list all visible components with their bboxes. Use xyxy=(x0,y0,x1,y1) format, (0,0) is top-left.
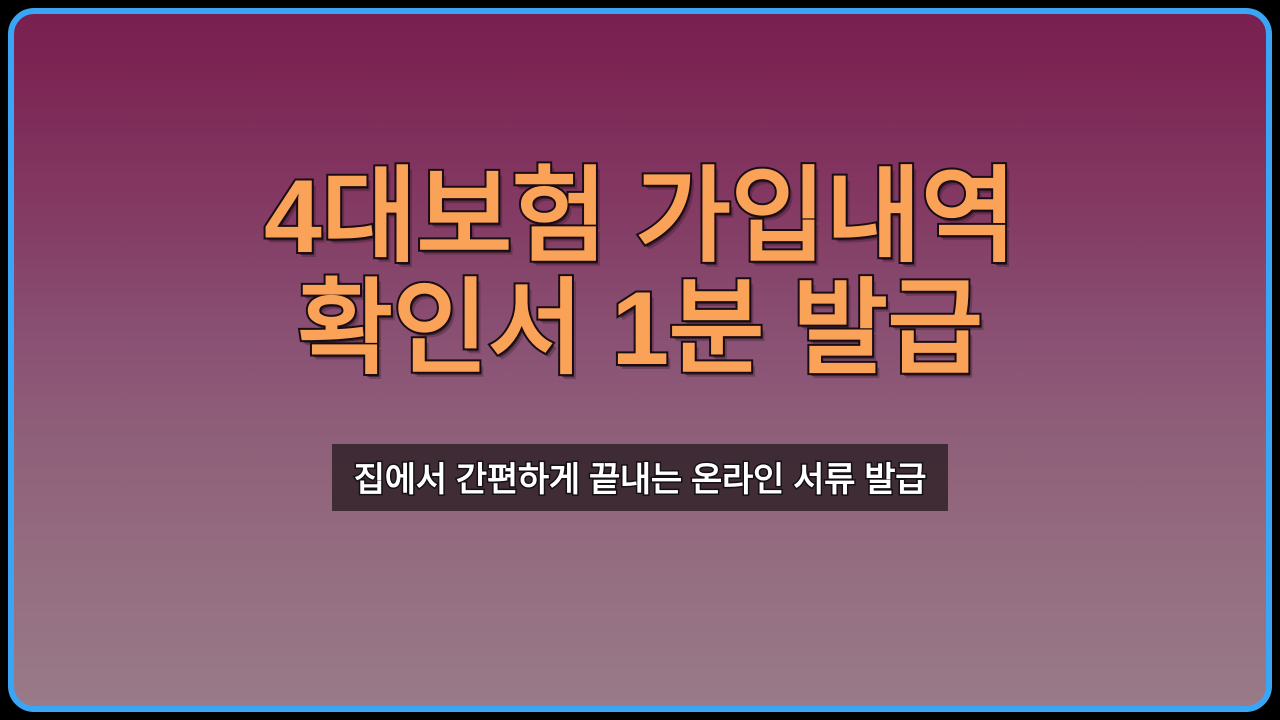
subtitle-band: 집에서 간편하게 끝내는 온라인 서류 발급 xyxy=(332,444,948,511)
headline-line-2: 확인서 1분 발급 xyxy=(264,276,1016,382)
headline: 4대보험 가입내역 확인서 1분 발급 xyxy=(264,164,1016,382)
blue-rounded-frame: 4대보험 가입내역 확인서 1분 발급 집에서 간편하게 끝내는 온라인 서류 … xyxy=(8,8,1272,712)
subtitle-text: 집에서 간편하게 끝내는 온라인 서류 발급 xyxy=(332,444,948,511)
headline-line-1: 4대보험 가입내역 xyxy=(264,164,1016,270)
thumbnail-canvas: 4대보험 가입내역 확인서 1분 발급 집에서 간편하게 끝내는 온라인 서류 … xyxy=(0,0,1280,720)
content-column: 4대보험 가입내역 확인서 1분 발급 집에서 간편하게 끝내는 온라인 서류 … xyxy=(14,14,1266,706)
